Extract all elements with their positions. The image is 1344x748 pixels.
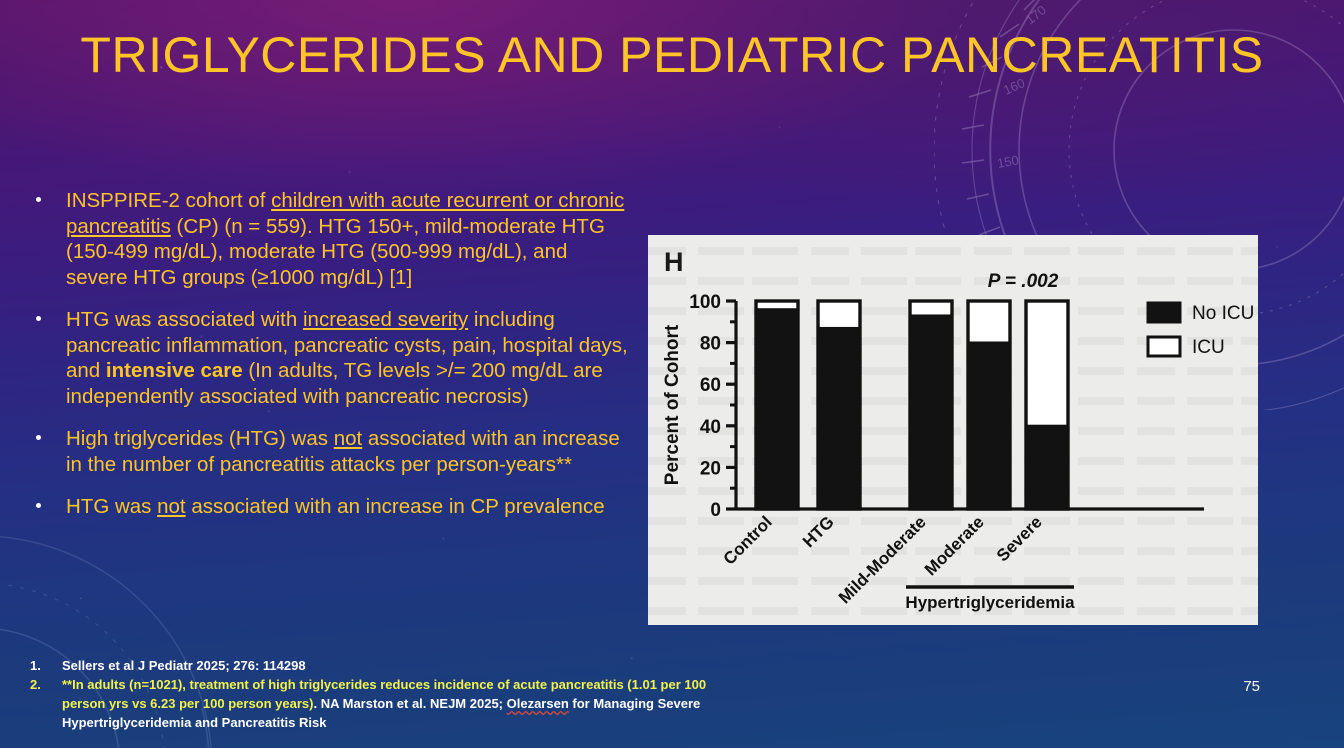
figure-panel: H 020406080100Percent of CohortControlHT… xyxy=(648,235,1258,625)
bar-segment-no-icu xyxy=(910,316,952,509)
text-run: High triglycerides (HTG) was xyxy=(66,427,334,450)
text-run: HTG was associated with xyxy=(66,308,303,331)
bar-segment-no-icu xyxy=(1026,426,1068,509)
bullet-item: High triglycerides (HTG) was not associa… xyxy=(30,426,630,477)
bullet-item: HTG was associated with increased severi… xyxy=(30,307,630,409)
text-run: . NA Marston et al. NEJM 2025; xyxy=(313,696,506,711)
text-run: associated with an increase in CP preval… xyxy=(186,495,605,518)
footnote-item: 1. Sellers et al J Pediatr 2025; 276: 11… xyxy=(28,656,708,675)
presentation-slide: 190 180 170 160 150 TRIGLYCERIDES AND PE… xyxy=(0,0,1344,748)
slide-title: TRIGLYCERIDES AND PEDIATRIC PANCREATITIS xyxy=(0,24,1344,86)
bullet-item: HTG was not associated with an increase … xyxy=(30,494,630,520)
y-axis-tick-label: 40 xyxy=(700,417,721,438)
y-axis-label: Percent of Cohort xyxy=(662,324,683,485)
footnote-text: Sellers et al J Pediatr 2025; 276: 11429… xyxy=(62,658,306,673)
footnote-number: 1. xyxy=(30,656,41,675)
y-axis-tick-label: 100 xyxy=(689,292,721,313)
bullet-item: INSPPIRE-2 cohort of children with acute… xyxy=(30,188,630,290)
footnote-number: 2. xyxy=(30,675,41,694)
bullet-marker-icon xyxy=(36,316,41,321)
svg-text:150: 150 xyxy=(996,152,1020,171)
footnote-item: 2. **In adults (n=1021), treatment of hi… xyxy=(28,675,708,732)
bullet-text: High triglycerides (HTG) was not associa… xyxy=(66,427,620,476)
bar-segment-no-icu xyxy=(968,343,1010,509)
text-run: increased severity xyxy=(303,308,468,331)
bullet-list: INSPPIRE-2 cohort of children with acute… xyxy=(30,188,630,537)
y-axis-tick-label: 20 xyxy=(700,458,721,479)
bullet-text: HTG was associated with increased severi… xyxy=(66,308,628,408)
text-run: intensive care xyxy=(106,359,243,382)
stacked-bar-chart: 020406080100Percent of CohortControlHTGM… xyxy=(648,235,1258,625)
legend-label: ICU xyxy=(1192,337,1225,358)
bullet-text: INSPPIRE-2 cohort of children with acute… xyxy=(66,189,624,289)
legend-label: No ICU xyxy=(1192,303,1254,324)
y-axis-tick-label: 80 xyxy=(700,334,721,355)
p-value-annotation: P = .002 xyxy=(988,271,1059,292)
bar-segment-no-icu xyxy=(756,309,798,509)
text-run: not xyxy=(334,427,363,450)
slide-number: 75 xyxy=(1243,678,1260,695)
bullet-marker-icon xyxy=(36,503,41,508)
text-run: Sellers et al J Pediatr 2025; 276: 11429… xyxy=(62,658,306,673)
text-run: not xyxy=(157,495,186,518)
x-axis-category-label: HTG xyxy=(799,512,838,551)
x-axis-category-label: Moderate xyxy=(921,512,988,579)
y-axis-tick-label: 0 xyxy=(710,500,721,521)
text-run: Olezarsen xyxy=(507,696,569,711)
legend-swatch xyxy=(1148,337,1180,356)
bullet-marker-icon xyxy=(36,435,41,440)
text-run: HTG was xyxy=(66,495,157,518)
y-axis-tick-label: 60 xyxy=(700,375,721,396)
bullet-text: HTG was not associated with an increase … xyxy=(66,495,605,518)
x-axis-category-label: Control xyxy=(720,512,776,568)
legend-swatch xyxy=(1148,303,1180,322)
footnote-text: **In adults (n=1021), treatment of high … xyxy=(62,677,706,730)
text-run: INSPPIRE-2 cohort of xyxy=(66,189,271,212)
bullet-marker-icon xyxy=(36,197,41,202)
x-axis-category-label: Severe xyxy=(993,512,1046,565)
group-bracket-label: Hypertriglyceridemia xyxy=(905,593,1075,612)
bar-segment-no-icu xyxy=(818,328,860,509)
footnote-list: 1. Sellers et al J Pediatr 2025; 276: 11… xyxy=(28,656,708,732)
